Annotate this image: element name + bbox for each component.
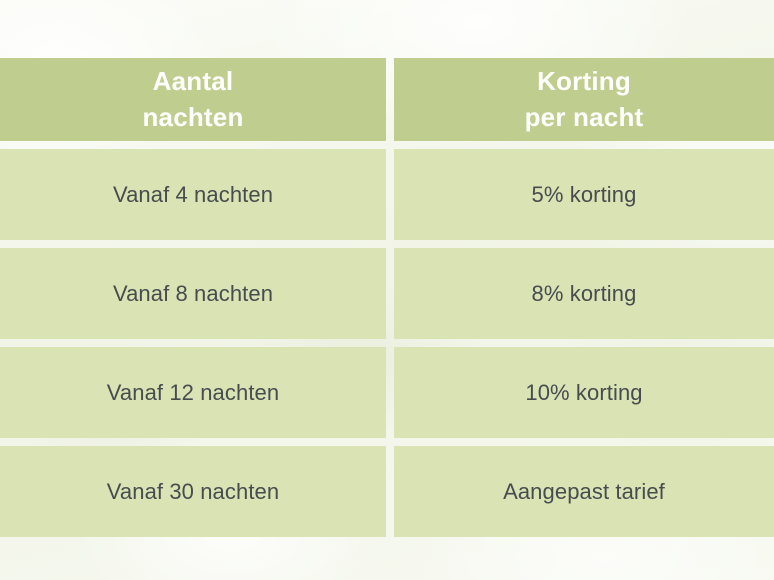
table-cell-nights: Vanaf 30 nachten [0,446,386,537]
table-cell-discount: 8% korting [394,248,774,339]
header-discount-line1: Korting [525,64,644,99]
nights-discount-table: Aantal nachten Korting per nacht Vanaf 4… [0,58,774,537]
table-cell-nights: Vanaf 12 nachten [0,347,386,438]
table-cell-nights: Vanaf 4 nachten [0,149,386,240]
table-cell-nights: Vanaf 8 nachten [0,248,386,339]
header-nights-line1: Aantal [142,64,243,99]
table-row: Vanaf 4 nachten 5% korting [0,149,774,240]
table-row: Vanaf 12 nachten 10% korting [0,347,774,438]
table-cell-discount: Aangepast tarief [394,446,774,537]
table-header-row: Aantal nachten Korting per nacht [0,58,774,141]
table-row: Vanaf 30 nachten Aangepast tarief [0,446,774,537]
table-header-cell-nights: Aantal nachten [0,58,386,141]
table-cell-discount: 10% korting [394,347,774,438]
table-cell-discount: 5% korting [394,149,774,240]
page-root: Aantal nachten Korting per nacht Vanaf 4… [0,0,774,580]
table-row: Vanaf 8 nachten 8% korting [0,248,774,339]
header-nights-line2: nachten [142,100,243,135]
header-discount-line2: per nacht [525,100,644,135]
table-header-cell-discount: Korting per nacht [394,58,774,141]
